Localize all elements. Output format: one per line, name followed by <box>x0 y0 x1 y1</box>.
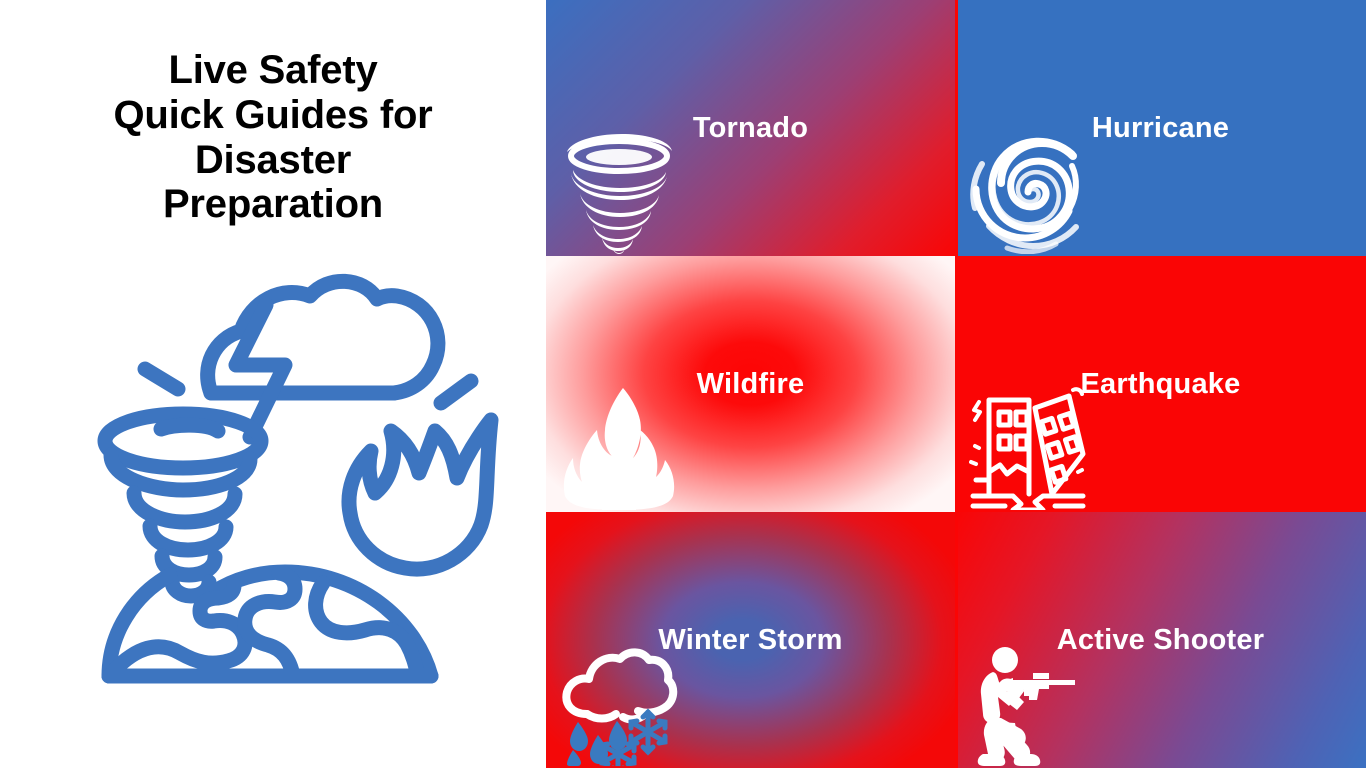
winter-storm-cloud-snow-icon <box>560 642 678 766</box>
tile-active-shooter-label: Active Shooter <box>955 624 1366 657</box>
poster-root: Live Safety Quick Guides for Disaster Pr… <box>0 0 1366 768</box>
tile-earthquake[interactable]: Earthquake <box>955 256 1366 512</box>
hurricane-spiral-icon <box>969 130 1087 254</box>
page-title-line-4: Preparation <box>73 182 473 227</box>
wildfire-flame-trees-icon <box>560 386 678 510</box>
left-panel: Live Safety Quick Guides for Disaster Pr… <box>0 0 546 768</box>
page-title-line-3: Disaster <box>73 138 473 183</box>
hero-illustration <box>38 241 508 711</box>
tile-winter-storm[interactable]: Winter Storm <box>546 512 955 768</box>
tile-hurricane-label: Hurricane <box>955 112 1366 145</box>
tile-wildfire-label: Wildfire <box>546 368 955 401</box>
page-title: Live Safety Quick Guides for Disaster Pr… <box>73 48 473 227</box>
tile-active-shooter[interactable]: Active Shooter <box>955 512 1366 768</box>
tile-earthquake-label: Earthquake <box>955 368 1366 401</box>
earthquake-collapsing-buildings-icon <box>969 386 1087 510</box>
page-title-line-2: Quick Guides for <box>73 93 473 138</box>
disaster-globe-illustration-icon <box>38 241 508 711</box>
tile-winter-storm-label: Winter Storm <box>546 624 955 657</box>
tile-wildfire[interactable]: Wildfire <box>546 256 955 512</box>
tornado-icon <box>560 130 678 254</box>
disaster-guide-grid: Tornado <box>546 0 1366 768</box>
page-title-line-1: Live Safety <box>73 48 473 93</box>
tile-tornado[interactable]: Tornado <box>546 0 955 256</box>
active-shooter-figure-icon <box>969 642 1087 766</box>
tile-tornado-label: Tornado <box>546 112 955 145</box>
tile-hurricane[interactable]: Hurricane <box>955 0 1366 256</box>
